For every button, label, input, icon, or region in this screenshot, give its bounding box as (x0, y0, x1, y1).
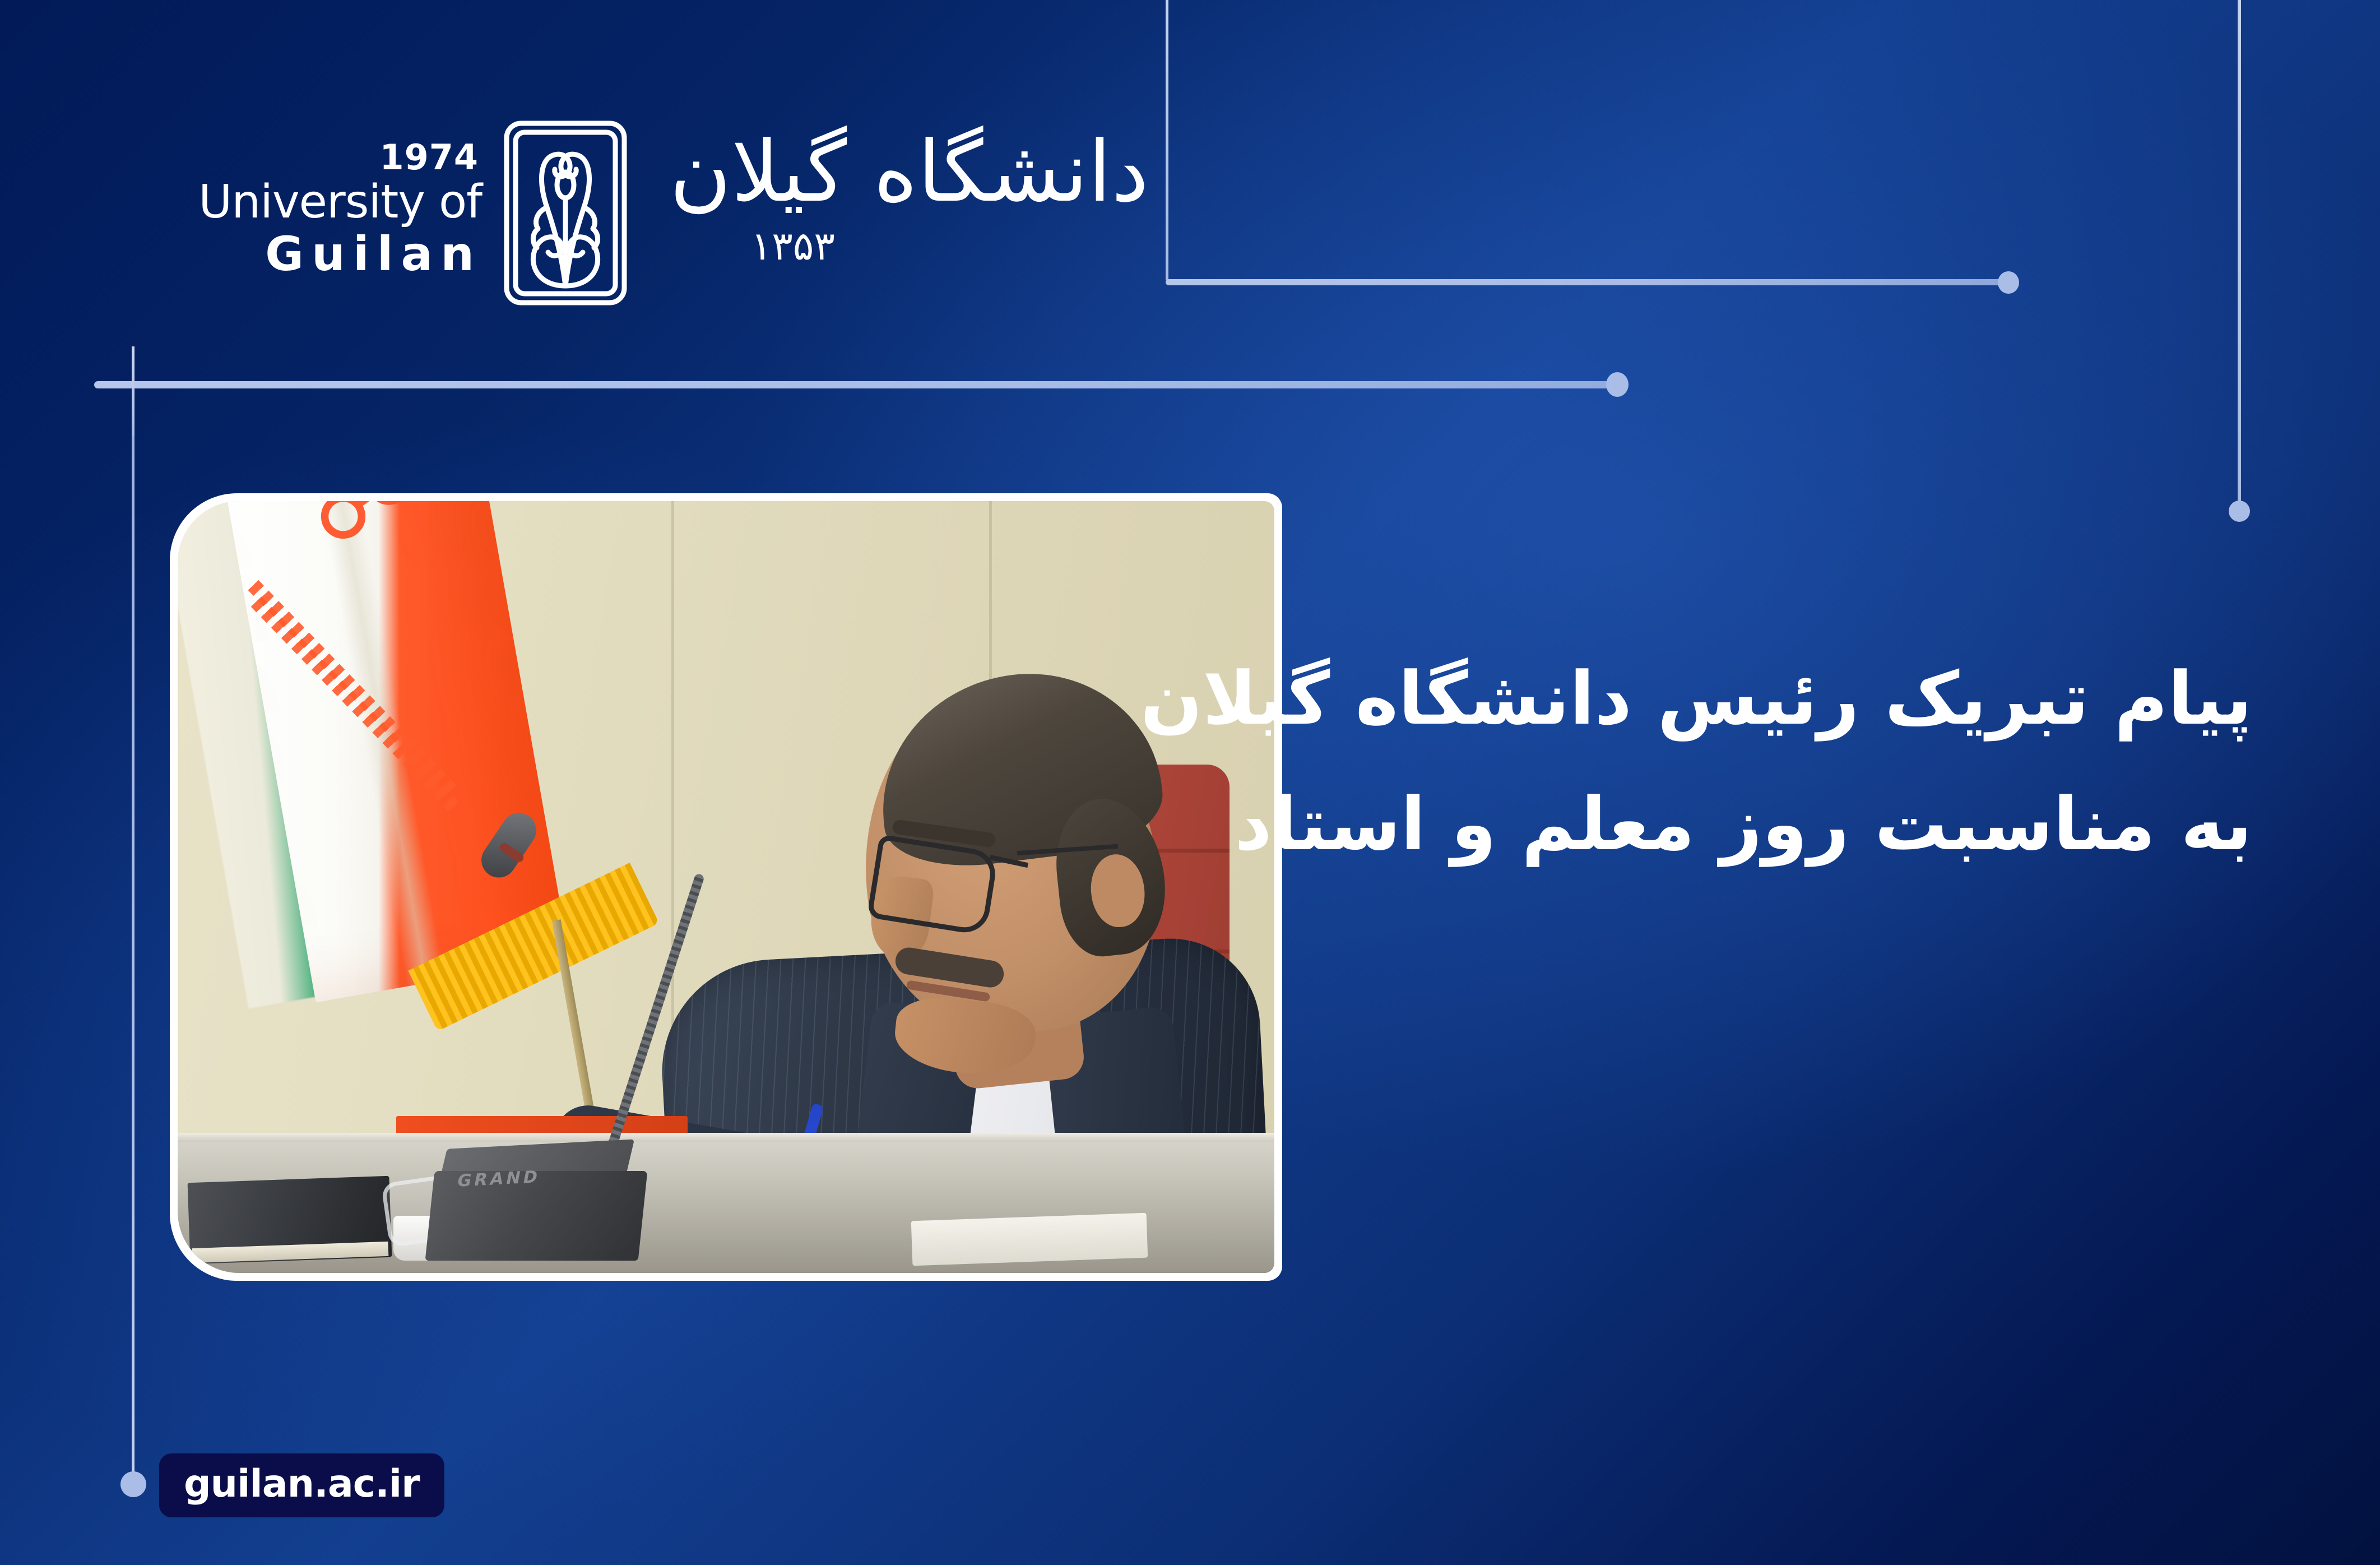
flag-emblem-icon: ☍ (311, 501, 412, 548)
decor-right-dot (2229, 501, 2250, 522)
paper-sheet (911, 1213, 1148, 1266)
decor-mid-left-dot (1606, 372, 1629, 397)
photo-card: ☍ (170, 493, 1282, 1281)
logo-university-word: University of (168, 178, 482, 227)
poster-canvas: 1974 University of Guilan دانشگاه گیلا (0, 0, 2380, 1565)
decor-left-bottom-dot (120, 1471, 146, 1497)
decor-top-right-dot (1998, 271, 2019, 294)
guilan-university-crest-icon (499, 118, 692, 308)
headline-line-2: به مناسبت روز معلم و استاد (1154, 762, 2252, 887)
decor-top-right-vertical-line (1166, 0, 1168, 280)
decor-top-right-horizontal-line (1166, 279, 2001, 285)
decor-left-vertical-line (132, 436, 134, 1482)
decor-mid-left-vertical-stub (132, 346, 134, 436)
desk-edge (178, 1133, 1274, 1142)
decor-mid-left-horizontal-line (94, 381, 1624, 388)
decor-right-vertical-line (2238, 0, 2241, 504)
logo-english-block: 1974 University of Guilan (168, 140, 482, 281)
website-url-badge[interactable]: guilan.ac.ir (159, 1453, 444, 1517)
founding-year-gregorian: 1974 (168, 140, 482, 175)
headline-line-1: پیام تبریک رئیس دانشگاه گیلان (1154, 636, 2252, 762)
founding-year-persian: ۱۳۵۳ (751, 226, 835, 266)
logo-university-name-fa: دانشگاه گیلان (670, 130, 1149, 214)
logo-guilan-word: Guilan (168, 227, 482, 281)
university-logo-lockup: 1974 University of Guilan دانشگاه گیلا (168, 118, 1154, 325)
headline-block: پیام تبریک رئیس دانشگاه گیلان به مناسبت … (1154, 636, 2252, 887)
photo-image: ☍ (178, 501, 1274, 1273)
logo-persian-block: دانشگاه گیلان ۱۳۵۳ (700, 122, 1149, 313)
